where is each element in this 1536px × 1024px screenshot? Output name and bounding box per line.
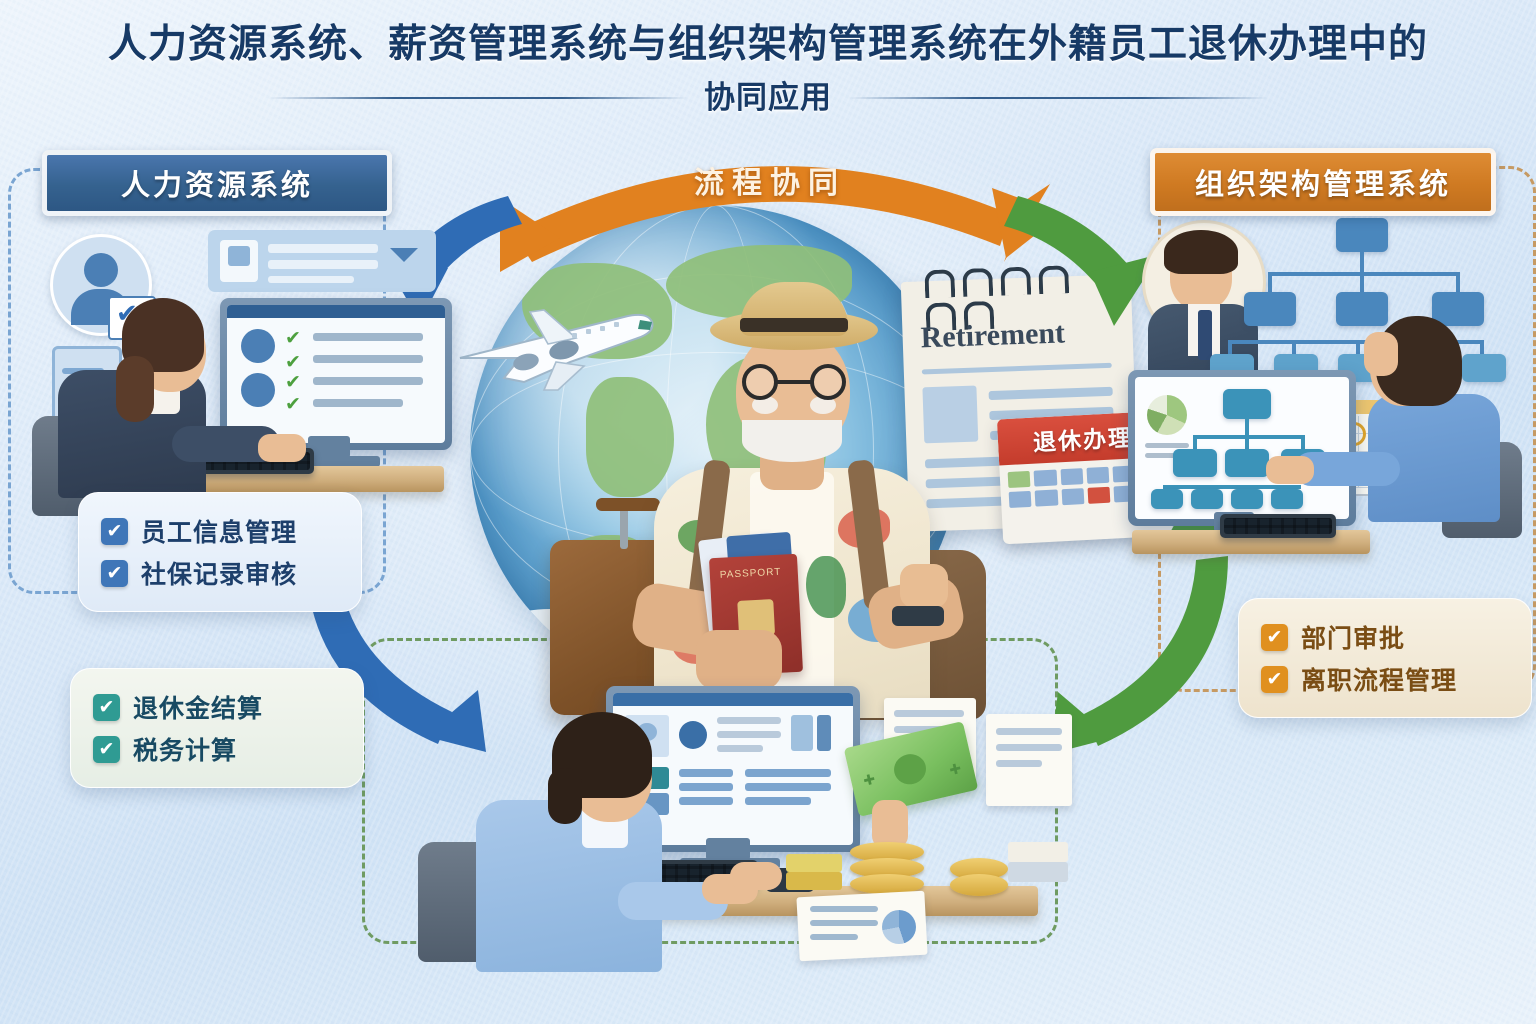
org-illustration xyxy=(1118,212,1530,542)
org-monitor xyxy=(1128,370,1356,526)
checkbox-checked-icon[interactable]: ✔ xyxy=(101,560,128,587)
payroll-checklist-label-1: 税务计算 xyxy=(133,731,237,767)
org-checklist-item-0[interactable]: ✔ 部门审批 xyxy=(1261,619,1509,655)
banknote-icon: ✚ ✚ xyxy=(844,721,979,817)
checkbox-checked-icon[interactable]: ✔ xyxy=(101,518,128,545)
hr-banner-label: 人力资源系统 xyxy=(121,162,313,204)
checkbox-checked-icon[interactable]: ✔ xyxy=(1261,624,1288,651)
hr-checklist-label-0: 员工信息管理 xyxy=(141,513,297,549)
payroll-checklist-item-0[interactable]: ✔ 退休金结算 xyxy=(93,689,341,725)
org-checklist-card: ✔ 部门审批 ✔ 离职流程管理 xyxy=(1238,598,1532,718)
checkbox-checked-icon[interactable]: ✔ xyxy=(1261,666,1288,693)
payroll-checklist-card: ✔ 退休金结算 ✔ 税务计算 xyxy=(70,668,364,788)
arc-label-process-collaboration: 流程协同 xyxy=(620,158,920,202)
infographic-canvas: 人力资源系统、薪资管理系统与组织架构管理系统在外籍员工退休办理中的 协同应用 xyxy=(0,0,1536,1024)
payroll-illustration: ✚ ✚ xyxy=(430,672,1070,1012)
hr-checklist-label-1: 社保记录审核 xyxy=(141,555,297,591)
checkbox-checked-icon[interactable]: ✔ xyxy=(93,736,120,763)
payroll-checklist-item-1[interactable]: ✔ 税务计算 xyxy=(93,731,341,767)
org-keyboard xyxy=(1220,514,1336,538)
checkbox-checked-icon[interactable]: ✔ xyxy=(93,694,120,721)
org-banner-label: 组织架构管理系统 xyxy=(1195,161,1451,203)
hr-illustration: ✔ ✔ ✔ ✔ ✔ xyxy=(22,218,442,518)
hr-checklist-item-1[interactable]: ✔ 社保记录审核 xyxy=(101,555,339,591)
payroll-checklist-label-0: 退休金结算 xyxy=(133,689,263,725)
org-checklist-label-1: 离职流程管理 xyxy=(1301,661,1457,697)
chevron-down-icon xyxy=(390,248,418,262)
org-banner: 组织架构管理系统 xyxy=(1150,148,1496,216)
hr-checklist-card: ✔ 员工信息管理 ✔ 社保记录审核 xyxy=(78,492,362,612)
hr-banner: 人力资源系统 xyxy=(42,150,392,216)
org-checklist-item-1[interactable]: ✔ 离职流程管理 xyxy=(1261,661,1509,697)
hr-checklist-item-0[interactable]: ✔ 员工信息管理 xyxy=(101,513,339,549)
org-checklist-label-0: 部门审批 xyxy=(1301,619,1405,655)
